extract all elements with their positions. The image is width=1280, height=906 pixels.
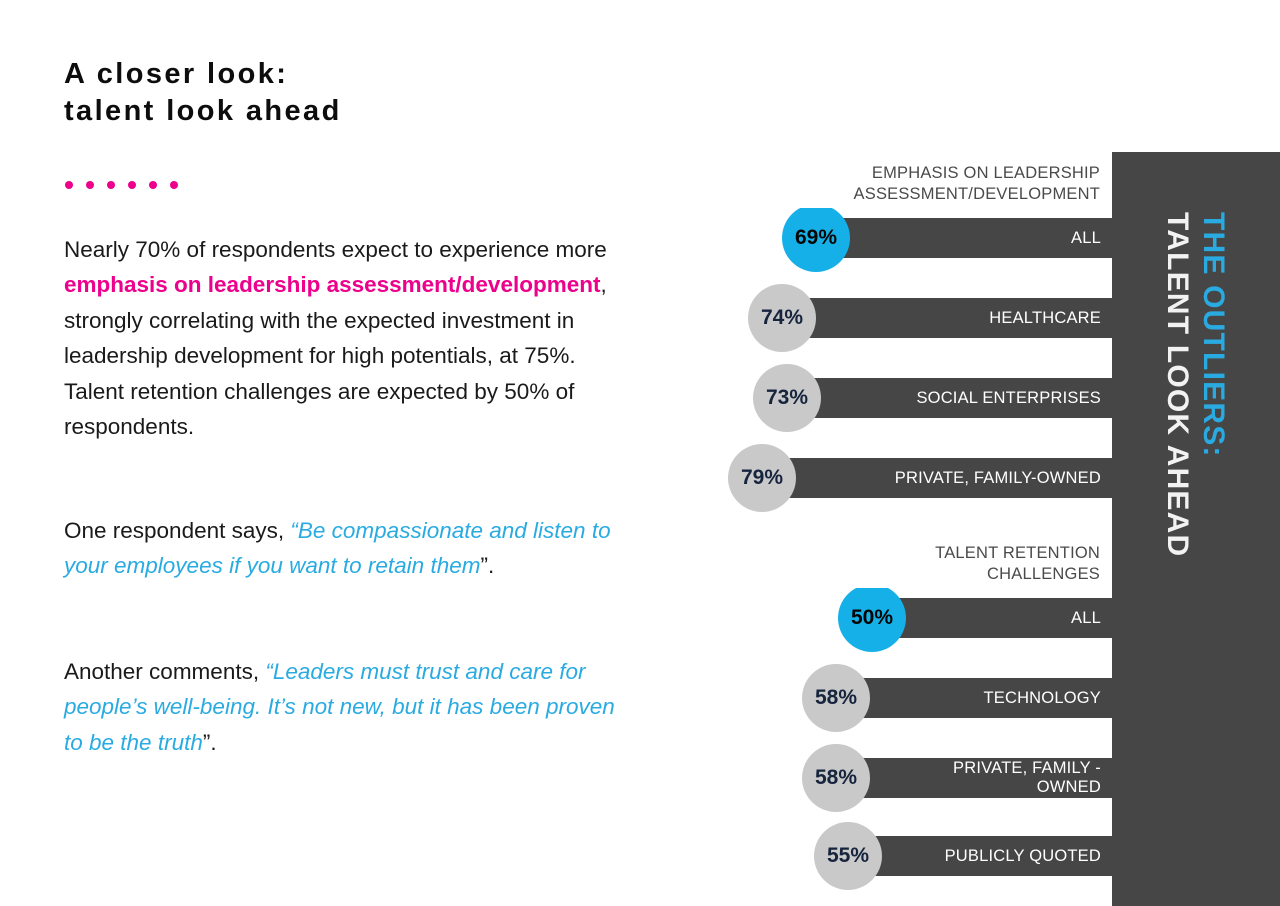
chart-bar: PUBLICLY QUOTED — [848, 836, 1112, 876]
chart-region: THE OUTLIERS: TALENT LOOK AHEAD EMPHASIS… — [0, 0, 1280, 906]
chart-bar: HEALTHCARE — [782, 298, 1112, 338]
chart-bar-label: PUBLICLY QUOTED — [945, 847, 1112, 866]
chart-bar: ALL — [872, 598, 1112, 638]
chart-bar-label: TECHNOLOGY — [983, 689, 1112, 708]
chart-bar-label: ALL — [1071, 609, 1112, 628]
chart-value-bubble: 55% — [814, 822, 882, 890]
chart-bar: PRIVATE, FAMILY-OWNED — [762, 458, 1112, 498]
chart-bar: PRIVATE, FAMILY - OWNED — [836, 758, 1112, 798]
chart-bar-label: PRIVATE, FAMILY-OWNED — [895, 469, 1112, 488]
chart-value-bubble: 58% — [802, 744, 870, 812]
chart-bar-label: PRIVATE, FAMILY - OWNED — [953, 759, 1112, 797]
bar-rows-container: EMPHASIS ON LEADERSHIP ASSESSMENT/DEVELO… — [0, 0, 1280, 906]
chart-group-heading: TALENT RETENTION CHALLENGES — [680, 540, 1100, 588]
chart-value-bubble: 69% — [782, 204, 850, 272]
chart-bar: TECHNOLOGY — [836, 678, 1112, 718]
chart-group-heading: EMPHASIS ON LEADERSHIP ASSESSMENT/DEVELO… — [680, 160, 1100, 208]
chart-bar: SOCIAL ENTERPRISES — [787, 378, 1112, 418]
chart-value-bubble: 58% — [802, 664, 870, 732]
chart-value-bubble: 79% — [728, 444, 796, 512]
chart-bar-label: HEALTHCARE — [989, 309, 1112, 328]
chart-bar-label: ALL — [1071, 229, 1112, 248]
chart-value-bubble: 73% — [753, 364, 821, 432]
chart-value-bubble: 74% — [748, 284, 816, 352]
chart-value-bubble: 50% — [838, 584, 906, 652]
chart-bar-label: SOCIAL ENTERPRISES — [916, 389, 1112, 408]
chart-bar: ALL — [816, 218, 1112, 258]
